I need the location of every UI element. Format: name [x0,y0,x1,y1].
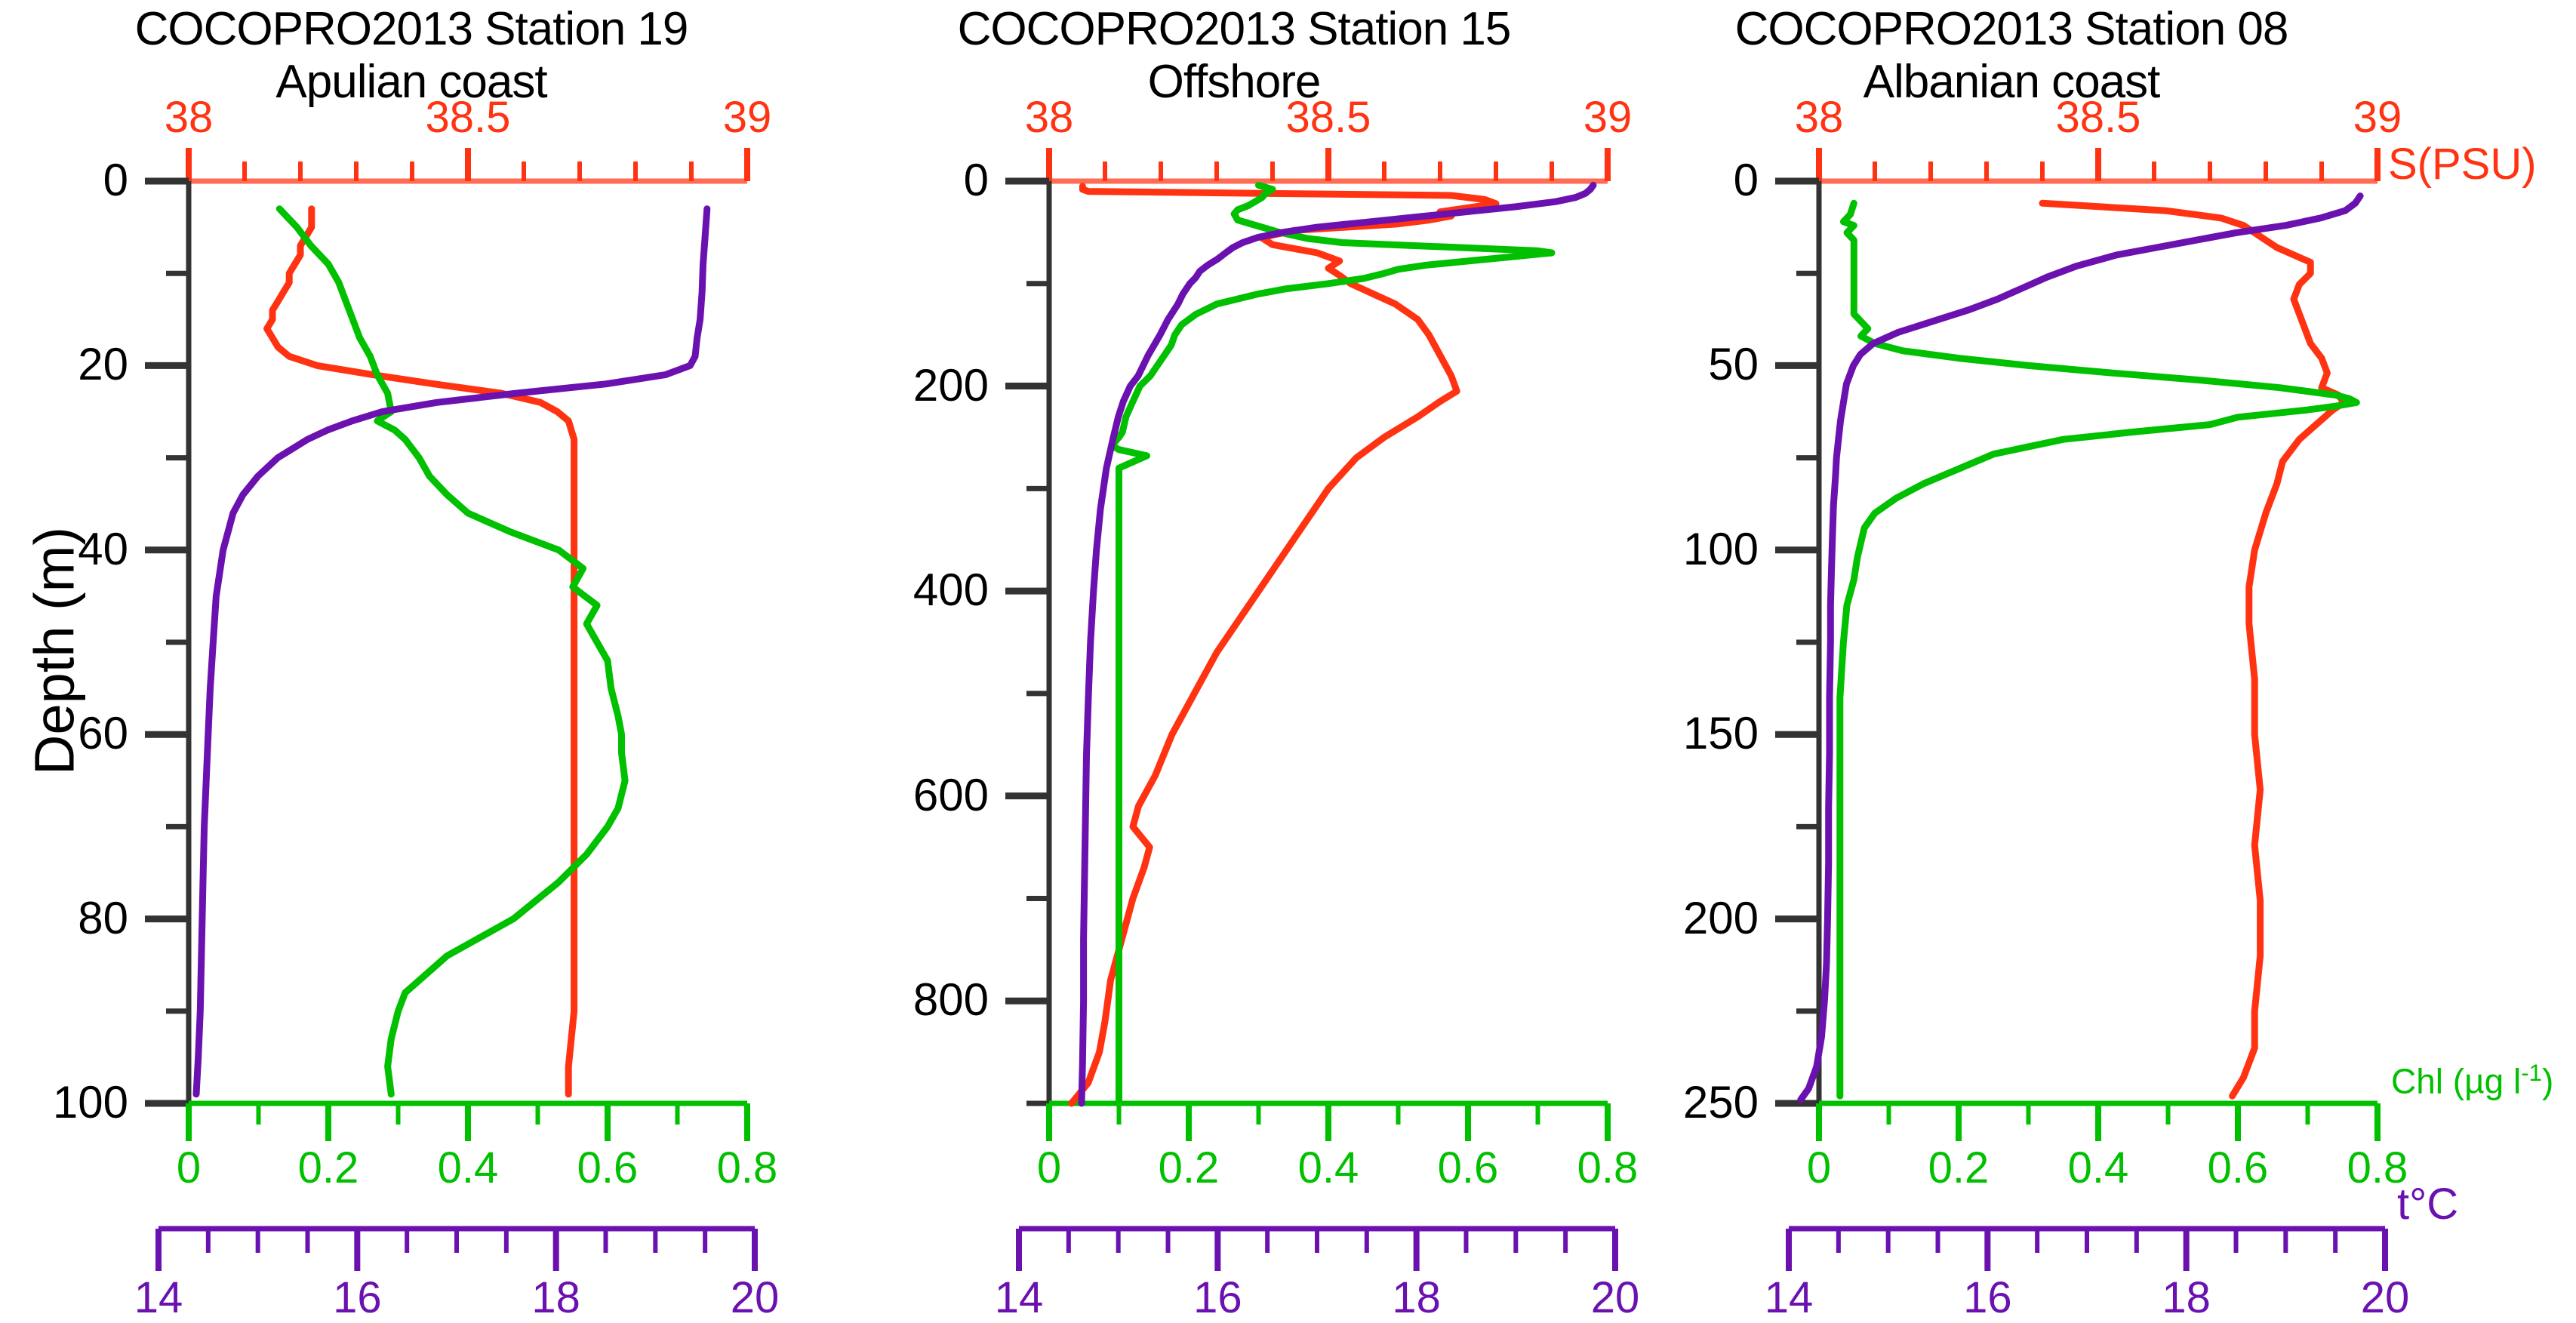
temperature-axis-unit-label: t°C [2397,1179,2458,1229]
salinity-tick-label: 39 [664,92,830,143]
ctd-profile-figure: Depth (m) COCOPRO2013 Station 19 Apulian… [0,0,2576,1312]
profile-line-salinity [1072,186,1496,1103]
salinity-axis-unit-label: S(PSU) [2388,139,2537,189]
salinity-tick-label: 38.5 [2015,92,2181,143]
temperature-tick-label: 20 [672,1272,838,1323]
depth-tick-label: 600 [762,769,989,821]
depth-tick-label: 0 [0,154,128,206]
temperature-tick-label: 18 [473,1272,639,1323]
salinity-tick-label: 38.5 [1245,92,1411,143]
salinity-tick-label: 38.5 [385,92,551,143]
salinity-tick-label: 38 [1736,92,1902,143]
depth-tick-label: 400 [762,564,989,616]
profile-line-temperature [1801,196,2360,1100]
depth-tick-label: 0 [762,154,989,206]
depth-tick-label: 0 [1532,154,1759,206]
profile-line-salinity [2042,203,2344,1096]
salinity-tick-label: 38 [966,92,1132,143]
profile-line-temperature [1082,185,1593,1103]
depth-tick-label: 60 [0,707,128,759]
depth-tick-label: 250 [1532,1076,1759,1128]
chlorophyll-axis-unit-label: Chl (µg l-1) [2391,1060,2553,1101]
depth-tick-label: 100 [0,1076,128,1128]
depth-tick-label: 100 [1532,523,1759,575]
depth-tick-label: 150 [1532,707,1759,759]
depth-tick-label: 80 [0,892,128,944]
depth-tick-label: 200 [762,359,989,411]
depth-tick-label: 40 [0,523,128,575]
temperature-tick-label: 18 [1334,1272,1500,1323]
temperature-tick-label: 18 [2104,1272,2270,1323]
profile-panel-station-08: COCOPRO2013 Station 08 Albanian coast 38… [1600,0,2423,1312]
profile-panel-station-15: COCOPRO2013 Station 15 Offshore 3838.539… [823,0,1645,1312]
temperature-tick-label: 14 [75,1272,242,1323]
chlorophyll-tick-label: 0.8 [664,1143,830,1193]
depth-tick-label: 20 [0,338,128,390]
temperature-tick-label: 16 [274,1272,440,1323]
salinity-tick-label: 39 [2294,92,2461,143]
profile-line-chlorophyll [1112,185,1552,1103]
depth-tick-label: 800 [762,974,989,1026]
profile-line-salinity [267,209,574,1094]
temperature-tick-label: 14 [1706,1272,1872,1323]
depth-tick-label: 50 [1532,338,1759,390]
temperature-tick-label: 16 [1134,1272,1300,1323]
temperature-tick-label: 14 [936,1272,1102,1323]
depth-tick-label: 200 [1532,892,1759,944]
salinity-tick-label: 38 [106,92,272,143]
temperature-tick-label: 16 [1904,1272,2070,1323]
temperature-tick-label: 20 [2302,1272,2468,1323]
profile-panel-station-19: COCOPRO2013 Station 19 Apulian coast 383… [0,0,823,1312]
profile-line-chlorophyll [1840,203,2357,1096]
